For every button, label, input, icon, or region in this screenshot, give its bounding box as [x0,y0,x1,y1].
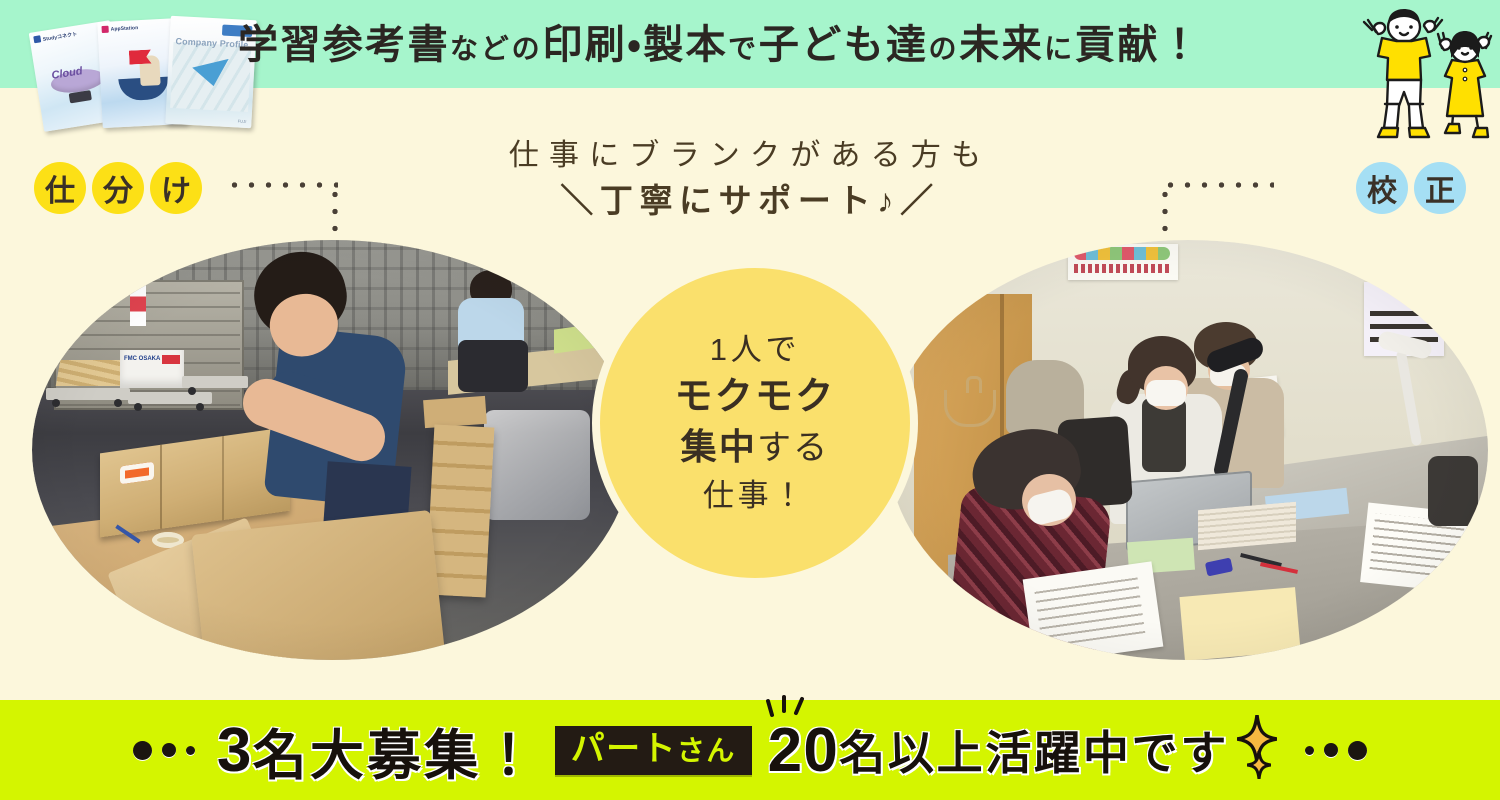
badge-group-sorting: 仕 分 け [34,162,202,214]
headline-part-9: 貢献！ [1075,23,1202,67]
headline-part-8: に [1044,33,1075,64]
dot-icon [1324,743,1338,757]
dot-icon [1348,741,1367,760]
headline-part-7: 未来 [959,23,1044,67]
leading-dots-decoration [133,741,195,760]
badge-char-kou: 校 [1356,162,1408,214]
page-title: 学習参考書などの印刷・製本で子ども達の未来に貢献！ [238,16,1358,74]
dot-icon [1305,746,1314,755]
headline-part-4: で [728,33,759,64]
bottom-banner-row: 3 名大募集！ パートさん 20 名以上活躍中です [133,711,1367,790]
center-line-4: 仕事！ [703,473,807,519]
headline-part-1: 学習参考書 [238,23,450,67]
dot-icon [162,743,176,757]
dotted-connector-right-horizontal [1162,182,1274,188]
jumping-children-icon [1352,0,1498,140]
sparkle-small-icon [1247,751,1271,779]
badge-char-shi: 仕 [34,162,86,214]
center-line-3: 集中する [681,422,830,473]
role-badge-suffix: さん [677,735,736,766]
badge-char-ke: け [150,162,202,214]
brand-square-icon [101,26,108,33]
headline-part-3: 印刷・製本 [542,23,728,67]
badge-char-wake: 分 [92,162,144,214]
brand-square-icon [33,35,41,43]
bottom-banner: 3 名大募集！ パートさん 20 名以上活躍中です [0,700,1500,800]
brochure-brand-label: Studyコネクト [42,30,77,42]
center-line-1: 1人で [710,328,800,372]
headline-part-6: の [928,33,959,64]
active-count-label: 名以上活躍中です [839,717,1229,783]
center-line-3-light: する [757,429,829,467]
proofreading-work-photo [888,240,1488,660]
recruit-count-label: 名大募集！ [253,711,539,790]
dotted-connector-right-vertical [1162,186,1168,242]
center-line-3-bold: 集中 [681,426,757,467]
sorting-work-photo: FMC OSAKA [32,240,632,660]
active-count-number: 20 [768,716,839,785]
role-badge-main: パート [571,730,677,768]
badge-char-sei: 正 [1414,162,1466,214]
brochure-footer-mark: FUJI [238,118,247,123]
trailing-dots-decoration [1305,741,1367,760]
sparkle-group-icon [1231,719,1287,781]
badge-group-proofreading: 校 正 [1356,162,1466,214]
headline-part-5: 子ども達 [759,23,929,67]
brochure-brand-label: AppStation [111,25,139,32]
banner-root: Studyコネクト Cloud FUJI AppStation FUJI Com… [0,0,1500,800]
accent-strokes-icon [766,693,812,719]
subcopy-line-1: 仕事にブランクがある方も [0,134,1500,178]
center-circle-text: 1人で モクモク 集中する 仕事！ [600,268,910,578]
photo-scene-warehouse: FMC OSAKA [32,240,632,660]
center-line-2: モクモク [674,372,835,422]
recruit-count-number: 3 [217,715,253,786]
dotted-connector-left-vertical [332,186,338,242]
headline-part-2: などの [450,33,542,64]
subcopy-line-2: ＼丁寧にサポート♪／ [0,178,1500,224]
brochure-photos: Studyコネクト Cloud FUJI AppStation FUJI Com… [22,4,252,128]
active-count-wrap: 20 [768,715,839,786]
photo-scene-office [888,240,1488,660]
sub-copy: 仕事にブランクがある方も ＼丁寧にサポート♪／ [0,134,1500,224]
role-badge: パートさん [555,726,752,775]
blimp-car-icon [69,90,92,103]
dot-icon [133,741,152,760]
dot-icon [186,746,195,755]
dotted-connector-left-horizontal [226,182,338,188]
